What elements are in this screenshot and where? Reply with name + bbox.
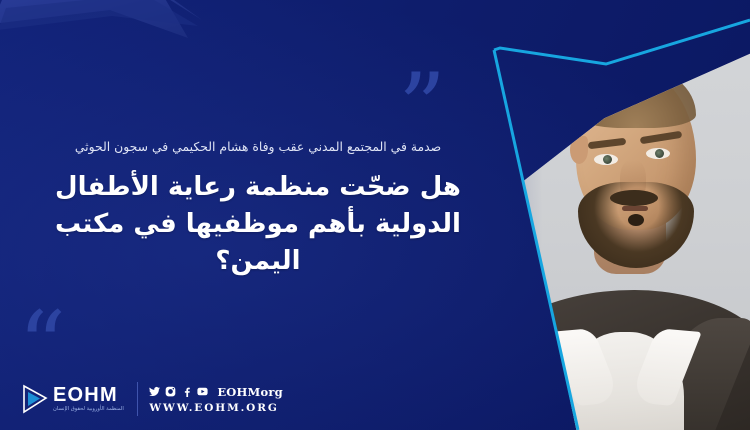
logo[interactable]: EOHM المنظمة الأوروبية لحقوق الإنسان (22, 384, 124, 414)
logo-arabic-subtitle: المنظمة الأوروبية لحقوق الإنسان (53, 407, 124, 412)
logo-text: EOHM المنظمة الأوروبية لحقوق الإنسان (53, 385, 124, 412)
social-row: EOHMorg (149, 385, 283, 399)
contact-info: EOHMorg WWW.EOHM.ORG (149, 385, 283, 414)
logo-wordmark: EOHM (53, 385, 124, 405)
page-title: هل ضحّت منظمة رعاية الأطفال الدولية بأهم… (16, 169, 500, 280)
kicker-text: صدمة في المجتمع المدني عقب وفاة هشام الح… (16, 138, 500, 155)
portrait-panel (470, 0, 750, 430)
social-handle[interactable]: EOHMorg (217, 385, 283, 399)
website-url[interactable]: WWW.EOHM.ORG (149, 402, 283, 414)
poster-canvas: ” “ صدمة في المجتمع المدني عقب وفاة هشام… (0, 0, 750, 430)
headline-block: صدمة في المجتمع المدني عقب وفاة هشام الح… (16, 138, 500, 280)
facebook-icon[interactable] (181, 386, 192, 397)
youtube-icon[interactable] (197, 386, 208, 397)
twitter-icon[interactable] (149, 386, 160, 397)
portrait-photo (470, 0, 750, 430)
footer-bar: EOHM المنظمة الأوروبية لحقوق الإنسان (22, 382, 283, 416)
quote-mark-open-icon: “ (18, 300, 64, 394)
portrait-edge-shade (470, 0, 750, 430)
footer-divider (137, 382, 139, 416)
instagram-icon[interactable] (165, 386, 176, 397)
eohm-triangle-logo-icon (22, 384, 48, 414)
